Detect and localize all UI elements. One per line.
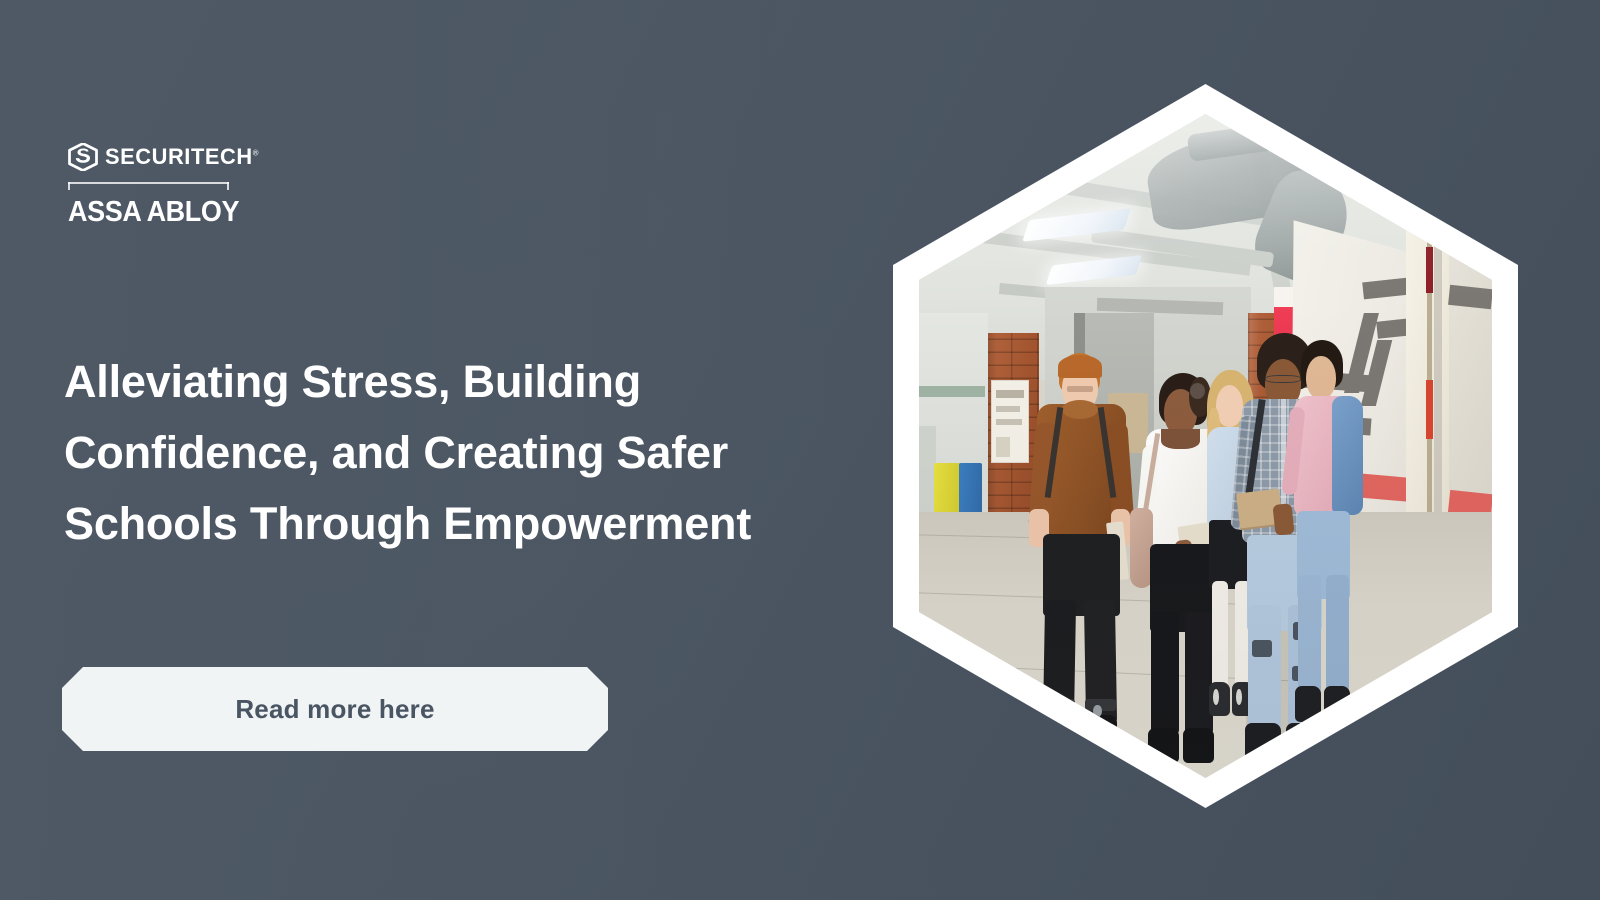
promo-banner: SECURITECH® ASSA ABLOY Alleviating Stres… <box>0 0 1600 900</box>
headline-line-3: Schools Through Empowerment <box>64 488 864 559</box>
securitech-hex-s-logo-icon <box>68 143 98 171</box>
logo-wordmark: SECURITECH® <box>105 146 258 169</box>
read-more-button-label: Read more here <box>235 694 434 725</box>
logo-primary-row: SECURITECH® <box>68 141 308 173</box>
read-more-button[interactable]: Read more here <box>62 667 608 751</box>
logo-sub-brand: ASSA ABLOY <box>68 198 291 227</box>
headline-line-2: Confidence, and Creating Safer <box>64 417 864 488</box>
brand-logo[interactable]: SECURITECH® ASSA ABLOY <box>68 141 308 227</box>
logo-divider-bracket <box>68 182 229 191</box>
registered-trademark-icon: ® <box>253 148 259 157</box>
headline-line-1: Alleviating Stress, Building <box>64 346 864 417</box>
logo-wordmark-text: SECURITECH <box>105 144 253 169</box>
headline: Alleviating Stress, Building Confidence,… <box>64 346 864 559</box>
hexagon-image-frame <box>893 84 1518 808</box>
